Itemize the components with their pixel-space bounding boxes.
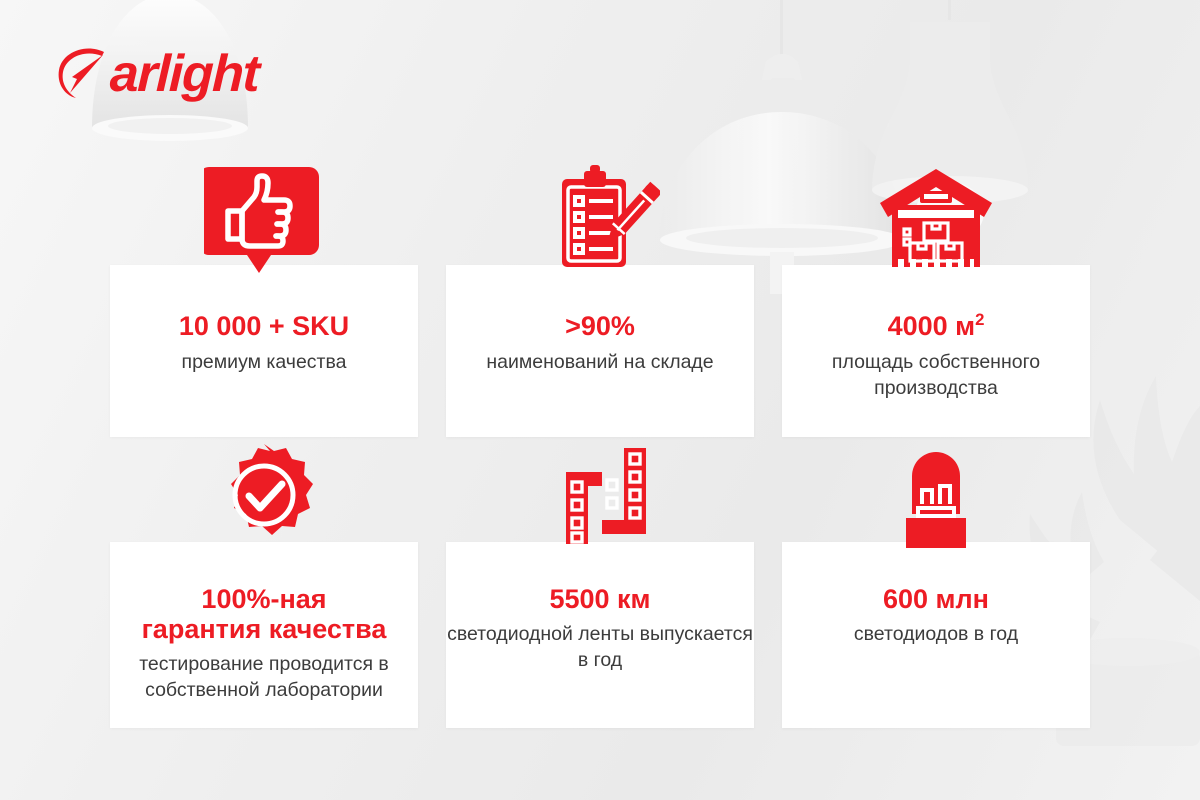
stat-value: 5500 км [549, 584, 650, 614]
stat-card-leds: 600 млн светодиодов в год [782, 542, 1090, 728]
thumbs-up-icon [204, 165, 324, 275]
led-diode-icon [876, 442, 996, 552]
stat-caption: светодиодов в год [854, 622, 1018, 648]
stat-caption: премиум качества [182, 350, 347, 376]
stat-card-sku: 10 000 + SKU премиум качества [110, 265, 418, 437]
stat-value-line1: 100%-ная [201, 584, 326, 614]
warehouse-boxes-icon [876, 165, 996, 275]
stat-value-line2: гарантия качества [142, 614, 387, 644]
quality-badge-check-icon [204, 442, 324, 552]
stat-value-text: 4000 м [888, 311, 976, 341]
stat-card-area: 4000 м2 площадь собственного производств… [782, 265, 1090, 437]
clipboard-checklist-pencil-icon [540, 165, 660, 275]
stats-grid: 10 000 + SKU премиум качества [110, 265, 1090, 728]
brand-logo: arlight [56, 46, 258, 102]
stat-card-stock: >90% наименований на складе [446, 265, 754, 437]
stat-value: >90% [565, 311, 635, 341]
pendant-lamp-dome-industrial-icon [660, 0, 904, 294]
stat-caption: наименований на складе [486, 350, 713, 376]
arlight-swoosh-mark-icon [56, 46, 108, 102]
stat-value: 10 000 + SKU [179, 311, 349, 341]
stat-card-led-strip: 5500 км светодиодной ленты выпускается в… [446, 542, 754, 728]
stat-card-guarantee: 100%-ная гарантия качества тестирование … [110, 542, 418, 728]
stat-caption: светодиодной ленты выпускается в год [446, 622, 754, 673]
stat-value: 4000 м2 [888, 311, 985, 341]
stat-caption: площадь собственного производства [782, 350, 1090, 401]
stat-value-superscript: 2 [975, 310, 984, 329]
stat-value: 600 млн [883, 584, 989, 614]
brand-name: arlight [109, 48, 259, 100]
led-strip-icon [540, 442, 660, 552]
stat-caption: тестирование проводится в собственной ла… [110, 652, 418, 703]
